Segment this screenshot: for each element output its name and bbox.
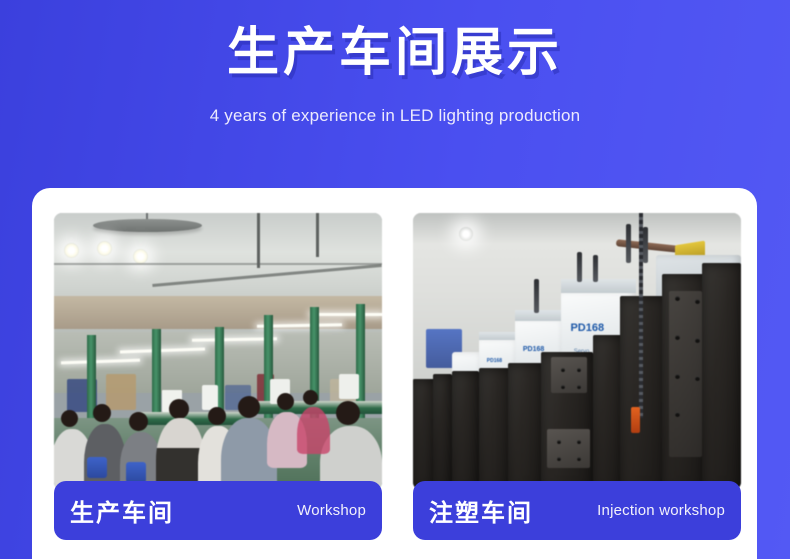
panel-assembly-workshop[interactable]: 生产车间 Workshop <box>54 213 382 559</box>
caption-cn-label: 生产车间 <box>70 493 174 528</box>
caption-injection-workshop: 注塑车间 Injection workshop <box>413 481 741 540</box>
page-banner: 生产车间展示 4 years of experience in LED ligh… <box>0 0 790 126</box>
caption-cn-label: 注塑车间 <box>429 493 533 528</box>
photo-assembly-workshop <box>54 213 382 490</box>
showcase-card: 生产车间 Workshop <box>32 188 757 559</box>
panel-injection-workshop[interactable]: PD168 Servo PD168 Servo PD168 Servo Stab… <box>413 213 741 559</box>
caption-en-label: Workshop <box>297 502 366 519</box>
page-title: 生产车间展示 <box>0 24 790 84</box>
photo-injection-workshop: PD168 Servo PD168 Servo PD168 Servo Stab… <box>413 213 741 490</box>
page-subtitle: 4 years of experience in LED lighting pr… <box>0 106 790 126</box>
panel-row: 生产车间 Workshop <box>54 213 735 559</box>
caption-assembly-workshop: 生产车间 Workshop <box>54 481 382 540</box>
caption-en-label: Injection workshop <box>597 502 725 519</box>
